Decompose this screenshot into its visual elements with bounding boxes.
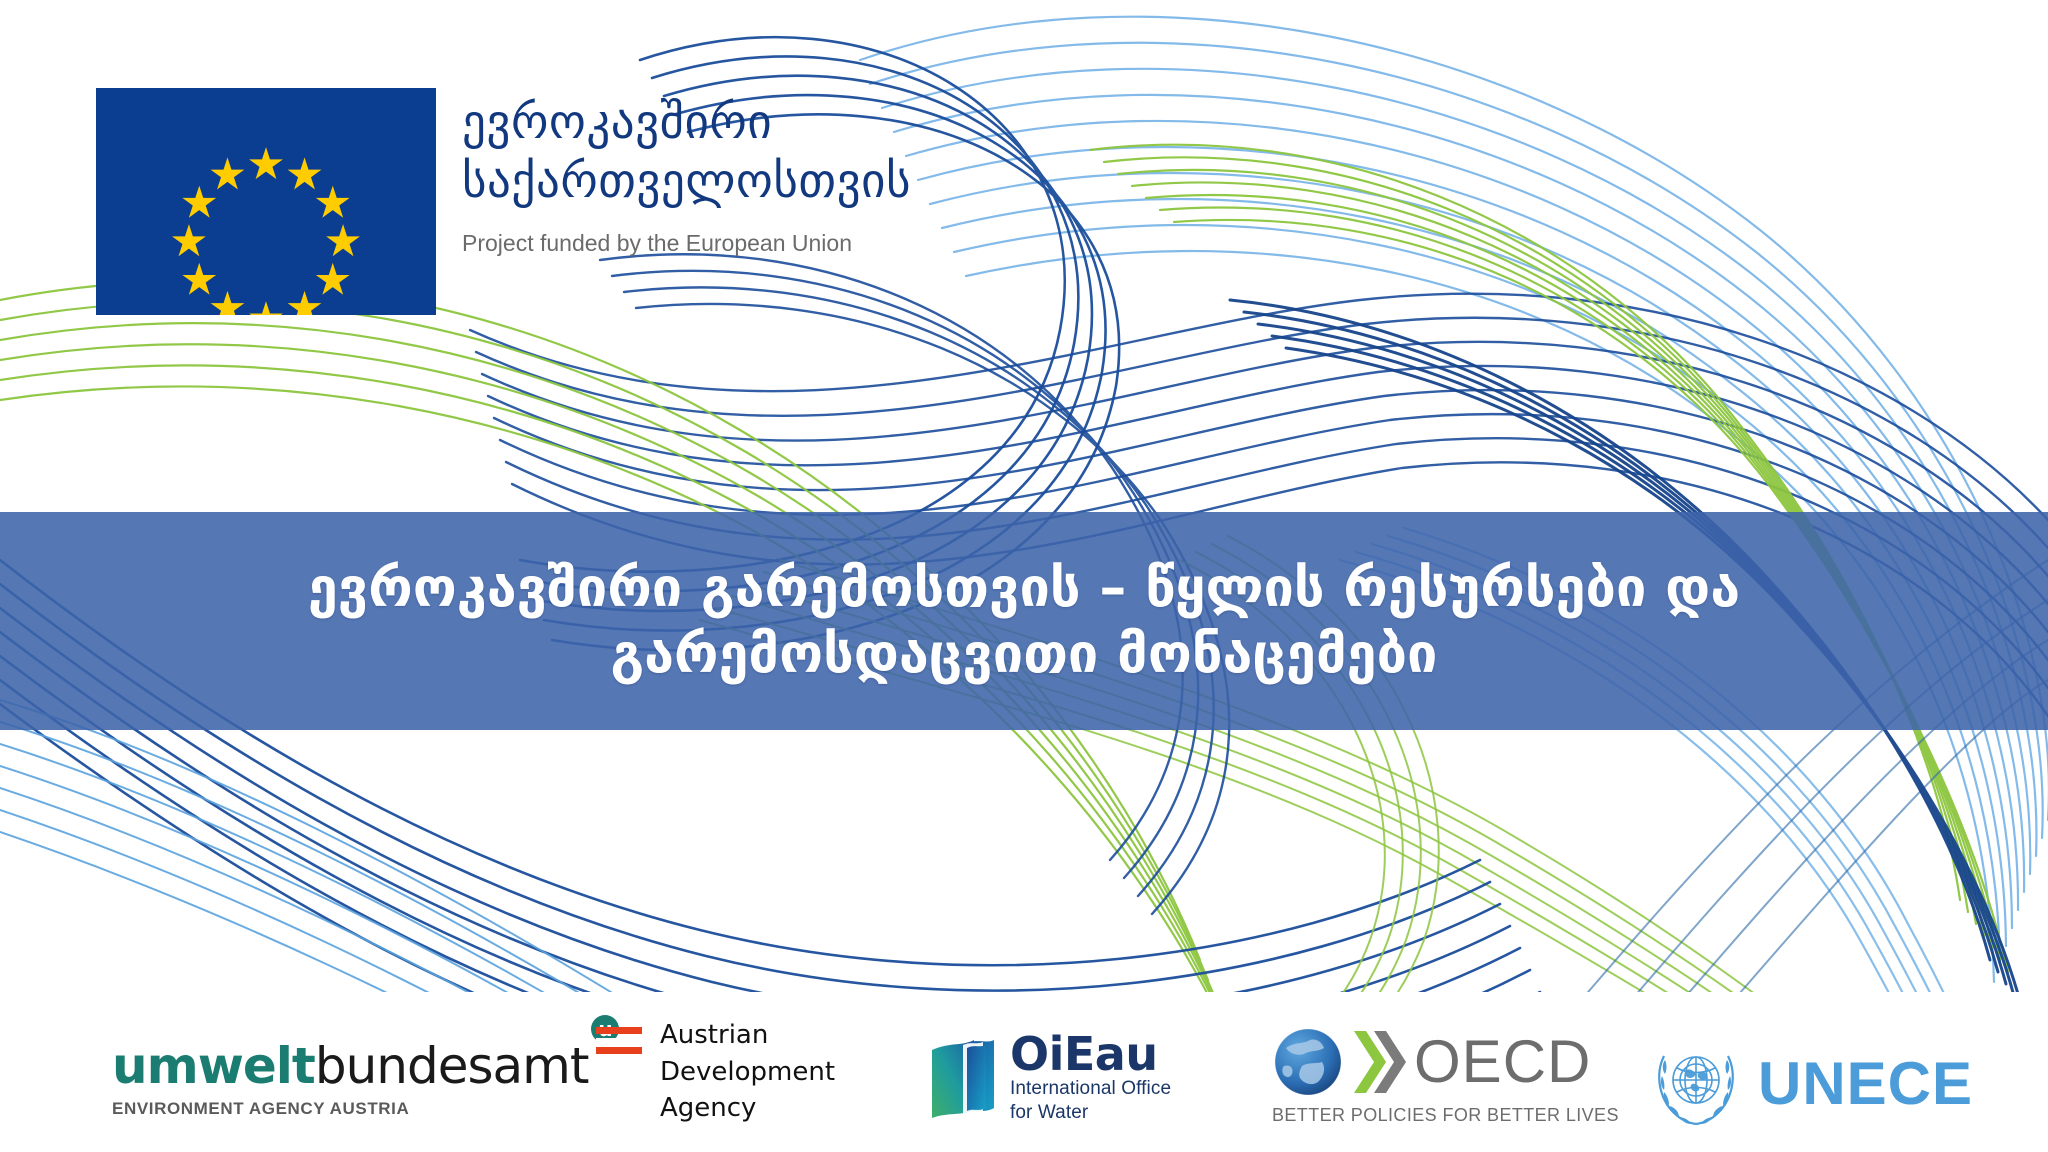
oecd-wordmark: OECD — [1414, 1032, 1591, 1092]
eu-logo-georgian-line-1: ევროკავშირი — [462, 94, 911, 153]
slide-title-line-1: ევროკავშირი გარემოსთვის – წყლის რესურსებ… — [174, 555, 1874, 621]
oieau-water-mark-icon — [930, 1036, 996, 1120]
austria-flag-icon — [596, 1027, 642, 1058]
logo-oecd: OECD BETTER POLICIES FOR BETTER LIVES — [1272, 1016, 1619, 1136]
oieau-sub-1: International Office — [1010, 1077, 1171, 1101]
umweltbundesamt-word-light: bundesamt — [315, 1037, 589, 1095]
eu-funding-logo: ევროკავშირი საქართველოსთვის Project fund… — [96, 88, 911, 315]
partner-logo-bar: umweltbundesamtu ENVIRONMENT AGENCY AUST… — [0, 992, 2048, 1152]
oecd-globe-icon — [1272, 1026, 1344, 1098]
title-banner: ევროკავშირი გარემოსთვის – წყლის რესურსებ… — [0, 512, 2048, 730]
logo-unece: UNECE — [1650, 1024, 1973, 1144]
umweltbundesamt-word-bold: umwelt — [112, 1037, 315, 1095]
ada-wordmark: Austrian Development Agency — [660, 1017, 835, 1128]
ada-line-1: Austrian — [660, 1017, 835, 1054]
umweltbundesamt-tagline: ENVIRONMENT AGENCY AUSTRIA — [112, 1099, 619, 1119]
eu-logo-georgian-line-2: საქართველოსთვის — [462, 153, 911, 212]
oecd-chevron-icon — [1348, 1029, 1406, 1095]
ada-line-2: Development — [660, 1054, 835, 1091]
united-nations-emblem-icon — [1650, 1038, 1742, 1130]
eu-funding-note: Project funded by the European Union — [462, 230, 911, 257]
slide-title: ევროკავშირი გარემოსთვის – წყლის რესურსებ… — [174, 555, 1874, 687]
slide-title-line-2: გარემოსდაცვითი მონაცემები — [174, 621, 1874, 687]
umweltbundesamt-wordmark: umweltbundesamtu — [112, 1041, 619, 1091]
european-union-flag — [96, 88, 436, 315]
unece-wordmark: UNECE — [1758, 1054, 1973, 1114]
oieau-wordmark: OiEau — [1010, 1031, 1171, 1077]
eu-logo-text: ევროკავშირი საქართველოსთვის Project fund… — [462, 88, 911, 257]
ada-line-3: Agency — [660, 1090, 835, 1127]
logo-oieau: OiEau International Office for Water — [930, 1018, 1171, 1138]
eu-flag-stars — [96, 88, 436, 315]
presentation-slide: ევროკავშირი გარემოსთვის – წყლის რესურსებ… — [0, 0, 2048, 1152]
oieau-sub-2: for Water — [1010, 1101, 1171, 1125]
oecd-tagline: BETTER POLICIES FOR BETTER LIVES — [1272, 1105, 1619, 1126]
logo-umweltbundesamt: umweltbundesamtu ENVIRONMENT AGENCY AUST… — [112, 1020, 619, 1140]
logo-austrian-development-agency: Austrian Development Agency — [596, 1012, 835, 1132]
